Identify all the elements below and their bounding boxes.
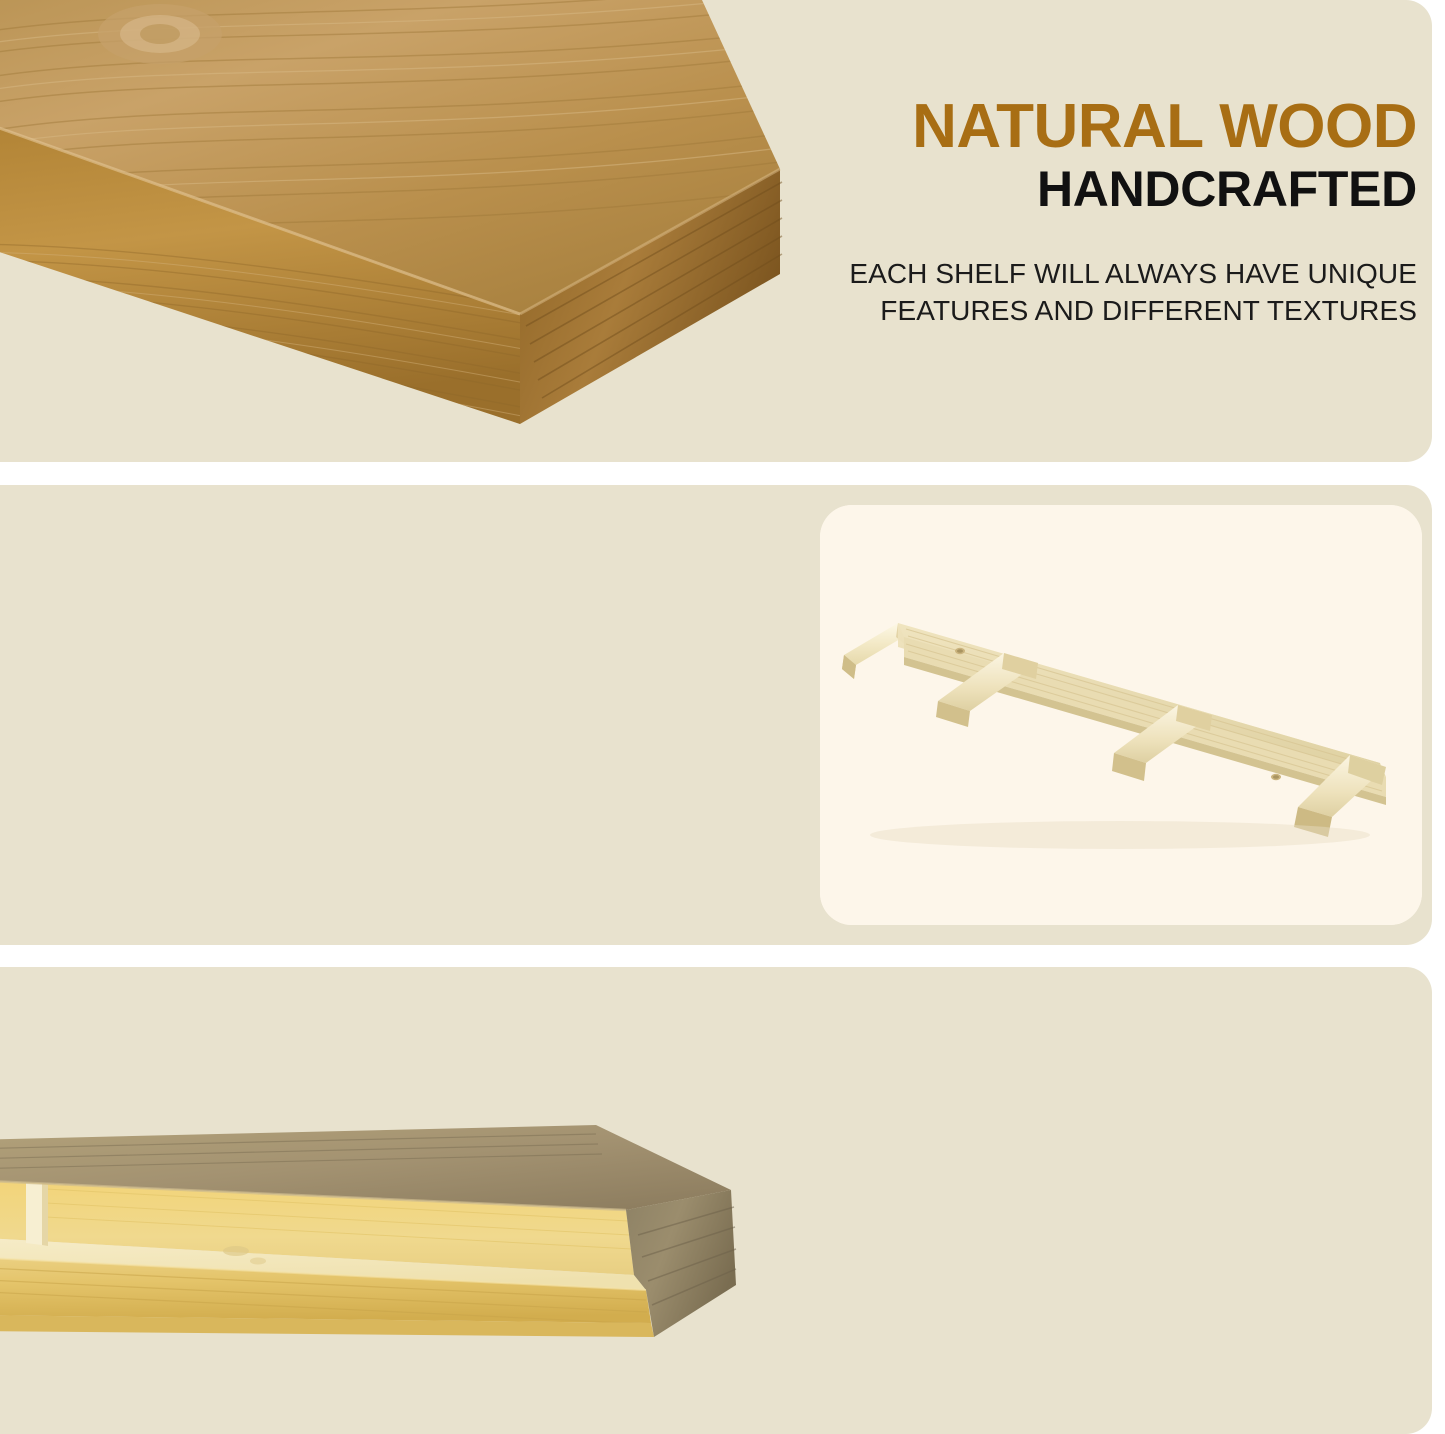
panel-1-body: EACH SHELF WILL ALWAYS HAVE UNIQUE FEATU…	[717, 256, 1417, 330]
feature-panel-natural-wood: NATURAL WOOD HANDCRAFTED EACH SHELF WILL…	[0, 0, 1432, 462]
headline-handcrafted: HANDCRAFTED	[717, 164, 1417, 214]
wood-beam-closeup-photo	[0, 0, 790, 449]
panel-1-body-line-1: EACH SHELF WILL ALWAYS HAVE UNIQUE	[717, 256, 1417, 293]
infographic-canvas: NATURAL WOOD HANDCRAFTED EACH SHELF WILL…	[0, 0, 1445, 1434]
headline-natural-wood: NATURAL WOOD	[717, 96, 1417, 158]
hollow-shelf-photo	[0, 1085, 796, 1415]
panel-1-text-block: NATURAL WOOD HANDCRAFTED EACH SHELF WILL…	[717, 96, 1417, 330]
bracket-image-card	[820, 505, 1422, 925]
wall-bracket-photo	[820, 505, 1422, 925]
panel-1-body-line-2: FEATURES AND DIFFERENT TEXTURES	[717, 293, 1417, 330]
